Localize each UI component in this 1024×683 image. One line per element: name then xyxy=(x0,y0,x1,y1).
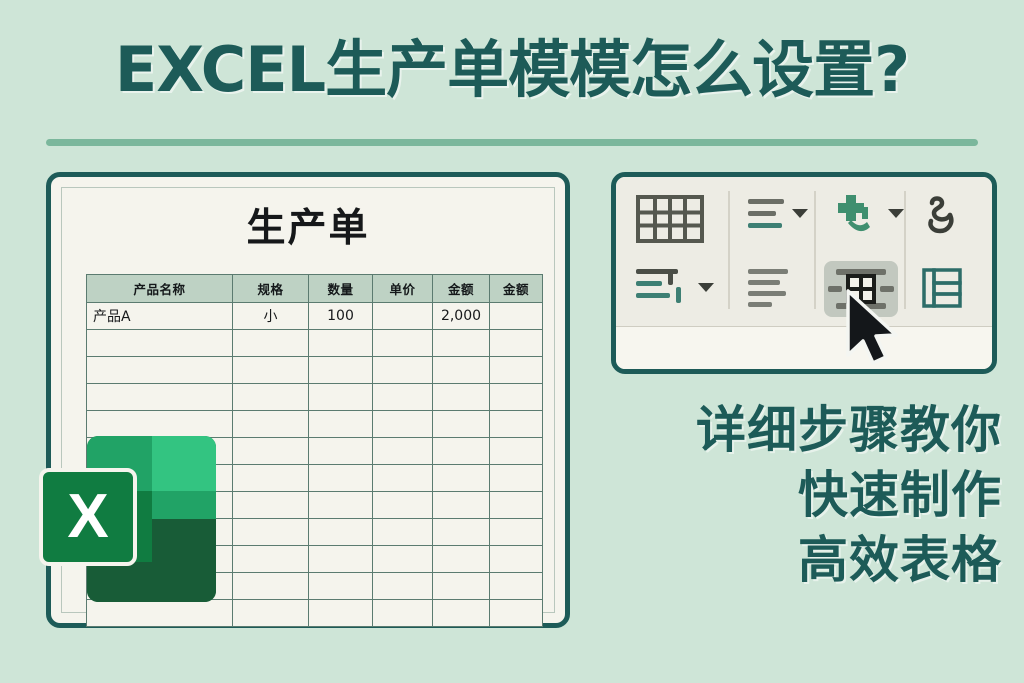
cell-unit-price[interactable] xyxy=(373,546,433,573)
align-text-icon[interactable] xyxy=(748,199,818,239)
cell-unit-price[interactable] xyxy=(373,384,433,411)
cell-amount-2[interactable] xyxy=(490,330,543,357)
cell-amount-2[interactable] xyxy=(490,384,543,411)
cell-spec[interactable] xyxy=(233,438,309,465)
split-cells-glyph xyxy=(920,267,966,309)
format-painter-icon[interactable] xyxy=(832,193,908,243)
cell-amount-2[interactable] xyxy=(490,465,543,492)
cell-amount[interactable] xyxy=(433,492,490,519)
cell-unit-price[interactable] xyxy=(373,600,433,627)
cell-amount[interactable] xyxy=(433,411,490,438)
cell-quantity[interactable] xyxy=(309,465,373,492)
cell-amount-2[interactable] xyxy=(490,546,543,573)
poster-canvas: EXCEL生产单模模怎么设置? 生产单 产品名称 规格 数量 单价 金额 xyxy=(0,0,1024,683)
cell-quantity[interactable] xyxy=(309,546,373,573)
caption-line-2: 快速制作 xyxy=(696,463,1002,528)
cell-amount[interactable] xyxy=(433,573,490,600)
cell-quantity[interactable] xyxy=(309,384,373,411)
cell-quantity[interactable] xyxy=(309,330,373,357)
cell-amount[interactable] xyxy=(433,330,490,357)
caption-block: 详细步骤教你 快速制作 高效表格 xyxy=(696,398,1002,593)
cell-quantity[interactable]: 100 xyxy=(309,303,373,330)
chevron-down-icon[interactable] xyxy=(792,209,808,218)
caption-line-3: 高效表格 xyxy=(696,528,1002,593)
table-header-row: 产品名称 规格 数量 单价 金额 金额 xyxy=(87,275,543,303)
cell-unit-price[interactable] xyxy=(373,438,433,465)
cell-amount-2[interactable] xyxy=(490,519,543,546)
cell-spec[interactable] xyxy=(233,519,309,546)
cell-quantity[interactable] xyxy=(309,600,373,627)
excel-logo-letter: X xyxy=(39,468,137,566)
cell-unit-price[interactable] xyxy=(373,519,433,546)
excel-logo: X xyxy=(39,432,219,608)
col-header-product-name[interactable]: 产品名称 xyxy=(87,275,233,303)
ribbon-separator xyxy=(814,191,816,309)
col-header-amount-2[interactable]: 金额 xyxy=(490,275,543,303)
caption-line-1: 详细步骤教你 xyxy=(696,398,1002,463)
cell-unit-price[interactable] xyxy=(373,303,433,330)
cell-product-name[interactable] xyxy=(87,357,233,384)
wrap-text-glyph xyxy=(920,193,964,239)
cell-quantity[interactable] xyxy=(309,411,373,438)
cell-quantity[interactable] xyxy=(309,438,373,465)
ribbon-separator xyxy=(728,191,730,309)
col-header-spec[interactable]: 规格 xyxy=(233,275,309,303)
table-row xyxy=(87,357,543,384)
cell-amount-2[interactable] xyxy=(490,411,543,438)
cell-spec[interactable] xyxy=(233,411,309,438)
cell-amount-2[interactable] xyxy=(490,357,543,384)
cell-product-name[interactable]: 产品A xyxy=(87,303,233,330)
cell-unit-price[interactable] xyxy=(373,411,433,438)
excel-logo-quadrant xyxy=(152,519,217,562)
ribbon-body xyxy=(616,177,992,327)
cell-amount-2[interactable] xyxy=(490,573,543,600)
split-cells-icon[interactable] xyxy=(920,267,972,313)
cell-unit-price[interactable] xyxy=(373,357,433,384)
cell-amount-2[interactable] xyxy=(490,600,543,627)
cell-quantity[interactable] xyxy=(309,492,373,519)
cell-quantity[interactable] xyxy=(309,519,373,546)
table-row xyxy=(87,384,543,411)
cell-amount[interactable]: 2,000 xyxy=(433,303,490,330)
cell-amount-2[interactable] xyxy=(490,438,543,465)
title-divider xyxy=(46,139,978,146)
ribbon-footer-bar xyxy=(616,326,992,369)
cell-spec[interactable]: 小 xyxy=(233,303,309,330)
cell-unit-price[interactable] xyxy=(373,492,433,519)
insert-table-icon[interactable] xyxy=(636,195,704,243)
excel-logo-quadrant xyxy=(87,562,216,602)
ribbon-separator xyxy=(904,191,906,309)
cell-amount-2[interactable] xyxy=(490,303,543,330)
cell-spec[interactable] xyxy=(233,330,309,357)
cell-amount[interactable] xyxy=(433,384,490,411)
col-header-quantity[interactable]: 数量 xyxy=(309,275,373,303)
worksheet-title: 生产单 xyxy=(62,206,554,252)
excel-logo-quadrant xyxy=(152,491,217,519)
chevron-down-icon[interactable] xyxy=(698,283,714,292)
cell-amount[interactable] xyxy=(433,357,490,384)
cell-unit-price[interactable] xyxy=(373,465,433,492)
cell-amount-2[interactable] xyxy=(490,492,543,519)
chevron-down-icon[interactable] xyxy=(888,209,904,218)
col-header-amount[interactable]: 金额 xyxy=(433,275,490,303)
wrap-text-icon[interactable] xyxy=(920,193,972,243)
cell-amount[interactable] xyxy=(433,438,490,465)
cell-styles-icon[interactable] xyxy=(636,267,714,311)
ribbon-toolbar-card xyxy=(611,172,997,374)
mouse-pointer-icon xyxy=(844,289,902,367)
align-left-icon[interactable] xyxy=(748,269,794,311)
cell-spec[interactable] xyxy=(233,384,309,411)
table-row xyxy=(87,330,543,357)
cell-quantity[interactable] xyxy=(309,573,373,600)
page-title: EXCEL生产单模模怎么设置? xyxy=(0,34,1024,106)
cell-amount[interactable] xyxy=(433,600,490,627)
cell-spec[interactable] xyxy=(233,546,309,573)
col-header-unit-price[interactable]: 单价 xyxy=(373,275,433,303)
cell-unit-price[interactable] xyxy=(373,573,433,600)
cell-amount[interactable] xyxy=(433,465,490,492)
cell-spec[interactable] xyxy=(233,465,309,492)
excel-logo-quadrant xyxy=(152,436,217,491)
cell-unit-price[interactable] xyxy=(373,330,433,357)
cell-spec[interactable] xyxy=(233,492,309,519)
cell-amount[interactable] xyxy=(433,519,490,546)
cell-spec[interactable] xyxy=(233,357,309,384)
cell-spec[interactable] xyxy=(233,600,309,627)
cell-quantity[interactable] xyxy=(309,357,373,384)
cell-spec[interactable] xyxy=(233,573,309,600)
merge-left-bar xyxy=(828,286,842,292)
cell-product-name[interactable] xyxy=(87,330,233,357)
table-row: 产品A 小 100 2,000 xyxy=(87,303,543,330)
cell-product-name[interactable] xyxy=(87,384,233,411)
cell-amount[interactable] xyxy=(433,546,490,573)
format-painter-glyph xyxy=(832,193,880,239)
